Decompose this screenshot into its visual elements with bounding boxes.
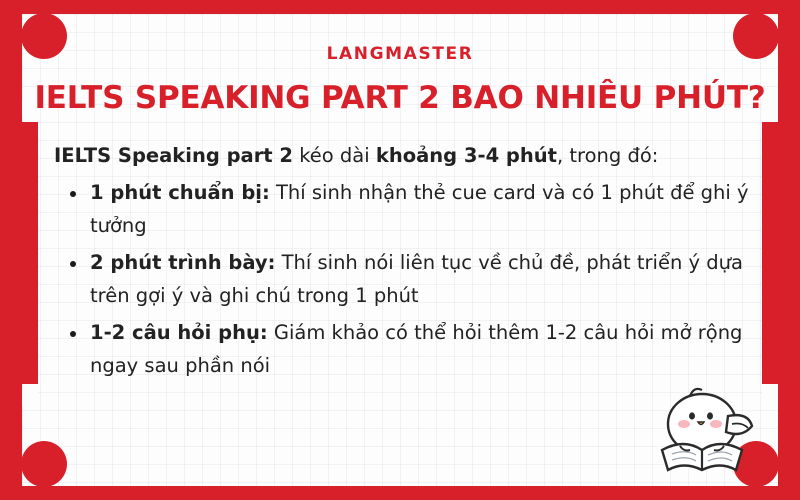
poster-card: LANGMASTER IELTS SPEAKING PART 2 BAO NHI… — [22, 14, 778, 486]
list-item-lead: 2 phút trình bày: — [90, 251, 275, 274]
intro-bold-duration: khoảng 3-4 phút — [376, 144, 557, 167]
side-ribbon-right — [762, 122, 778, 384]
body-content: IELTS Speaking part 2 kéo dài khoảng 3-4… — [54, 139, 754, 386]
list-item: 1 phút chuẩn bị: Thí sinh nhận thẻ cue c… — [90, 176, 754, 243]
list-item-lead: 1-2 câu hỏi phụ: — [90, 321, 268, 344]
intro-text-mid: kéo dài — [293, 144, 376, 167]
list-item-lead: 1 phút chuẩn bị: — [90, 181, 270, 204]
intro-bold-lead: IELTS Speaking part 2 — [54, 144, 293, 167]
page-title: IELTS SPEAKING PART 2 BAO NHIÊU PHÚT? — [22, 80, 778, 116]
points-list: 1 phút chuẩn bị: Thí sinh nhận thẻ cue c… — [54, 176, 754, 383]
chick-reading-book-icon — [632, 372, 760, 480]
side-ribbon-left — [22, 122, 38, 384]
intro-text-end: , trong đó: — [557, 144, 658, 167]
intro-paragraph: IELTS Speaking part 2 kéo dài khoảng 3-4… — [54, 139, 754, 173]
list-item: 2 phút trình bày: Thí sinh nói liên tục … — [90, 246, 754, 313]
corner-notch-bottom-left — [21, 441, 67, 487]
poster-root: LANGMASTER IELTS SPEAKING PART 2 BAO NHI… — [0, 0, 800, 500]
brand-logo-text: LANGMASTER — [22, 44, 778, 64]
